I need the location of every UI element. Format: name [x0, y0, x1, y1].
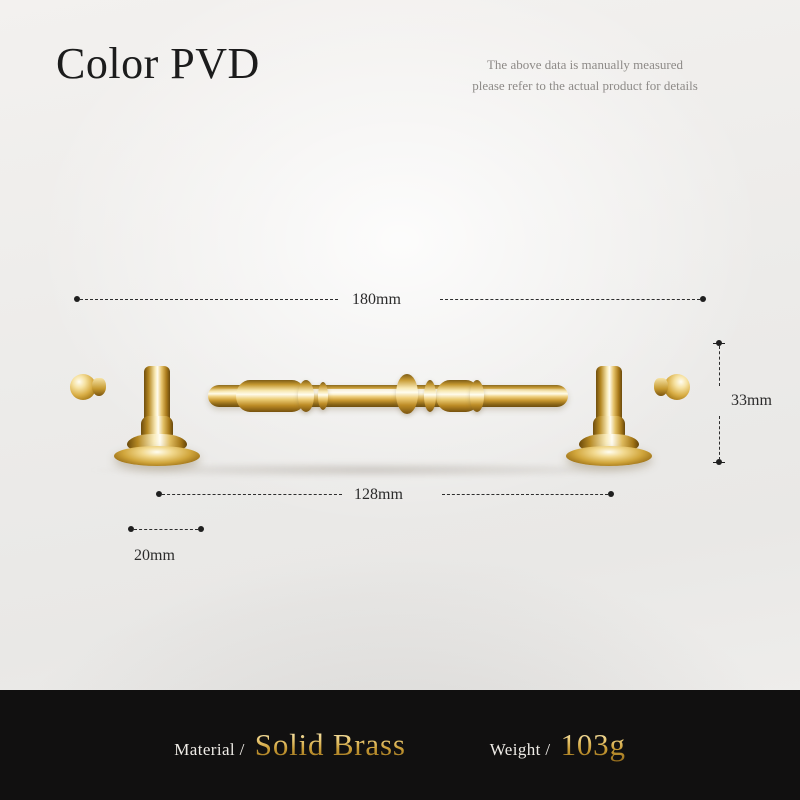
- handle-ring-3: [396, 374, 418, 414]
- material-group: Material / Solid Brass: [174, 727, 405, 763]
- overall-endpoint-right: [700, 296, 706, 302]
- base-right-disc: [566, 446, 652, 466]
- handle-spindle-left: [236, 380, 306, 412]
- measurement-disclaimer: The above data is manually measured plea…: [420, 54, 750, 96]
- handle-ring-2: [318, 382, 328, 410]
- finial-right-cap: [654, 378, 668, 396]
- finial-right: [656, 370, 690, 404]
- base-width-leader: [134, 529, 198, 530]
- weight-value: 103g: [561, 727, 626, 763]
- center-to-center-label: 128mm: [354, 486, 403, 504]
- ctc-endpoint-right: [608, 491, 614, 497]
- disclaimer-line-2: please refer to the actual product for d…: [420, 75, 750, 96]
- projection-height-label: 33mm: [731, 392, 772, 410]
- base-width-label: 20mm: [134, 547, 175, 565]
- weight-label: Weight /: [490, 740, 551, 760]
- ctc-leader-right: [442, 494, 608, 495]
- handle-ring-1: [298, 380, 314, 412]
- height-leader-top: [719, 346, 720, 386]
- disclaimer-line-1: The above data is manually measured: [420, 54, 750, 75]
- finial-left-cap: [92, 378, 106, 396]
- height-leader-bottom: [719, 416, 720, 460]
- product-photo: [0, 300, 800, 500]
- base-left-disc: [114, 446, 200, 466]
- handle-base-left: [114, 416, 200, 464]
- handle-base-right: [566, 416, 652, 464]
- spec-footer: Material / Solid Brass Weight / 103g: [0, 690, 800, 800]
- product-spec-image: Color PVD The above data is manually mea…: [0, 0, 800, 800]
- overall-length-label: 180mm: [352, 291, 401, 309]
- brass-handle: [40, 330, 720, 490]
- base-width-endpoint-right: [198, 526, 204, 532]
- material-label: Material /: [174, 740, 245, 760]
- overall-leader-left: [80, 299, 338, 300]
- material-value: Solid Brass: [255, 727, 406, 763]
- handle-ring-5: [470, 380, 484, 412]
- ctc-leader-left: [162, 494, 342, 495]
- weight-group: Weight / 103g: [490, 727, 626, 763]
- overall-leader-right: [440, 299, 700, 300]
- page-title: Color PVD: [56, 38, 260, 89]
- finial-left: [70, 370, 104, 404]
- handle-ring-4: [424, 380, 436, 412]
